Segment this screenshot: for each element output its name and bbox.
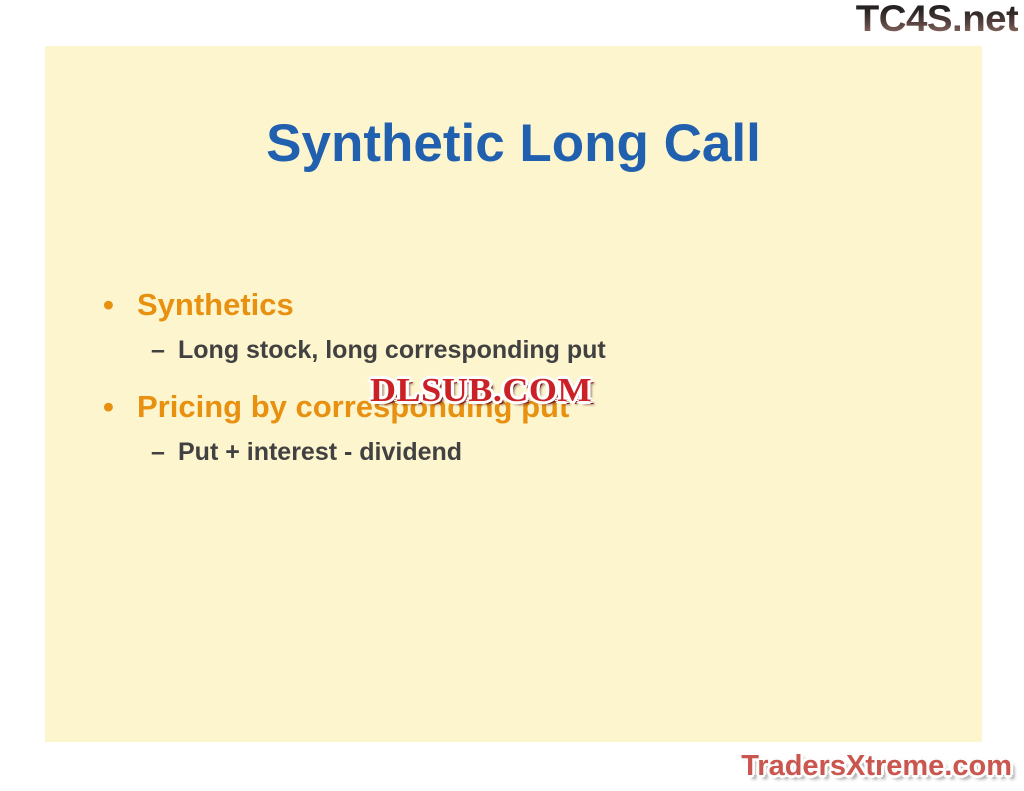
bullet-level2-label: Put + interest - dividend bbox=[178, 436, 942, 468]
bullet-block: • Synthetics – Long stock, long correspo… bbox=[103, 286, 942, 366]
site-logo: TC4S.net bbox=[855, 0, 1018, 40]
bullet-dash-icon: – bbox=[151, 436, 178, 468]
bottom-watermark: TradersXtreme.com bbox=[741, 749, 1012, 783]
overlay-watermark: DLSUB.COM bbox=[370, 374, 592, 408]
bullet-level2: – Put + interest - dividend bbox=[103, 436, 942, 468]
bullet-level2-label: Long stock, long corresponding put bbox=[178, 334, 942, 366]
bullet-dash-icon: – bbox=[151, 334, 178, 366]
bullet-level2: – Long stock, long corresponding put bbox=[103, 334, 942, 366]
bullet-level1-label: Synthetics bbox=[137, 286, 942, 324]
page-title: Synthetic Long Call bbox=[45, 114, 982, 174]
bullet-level1: • Synthetics bbox=[103, 286, 942, 324]
bullet-dot-icon: • bbox=[103, 286, 137, 324]
bullet-dot-icon: • bbox=[103, 388, 137, 426]
